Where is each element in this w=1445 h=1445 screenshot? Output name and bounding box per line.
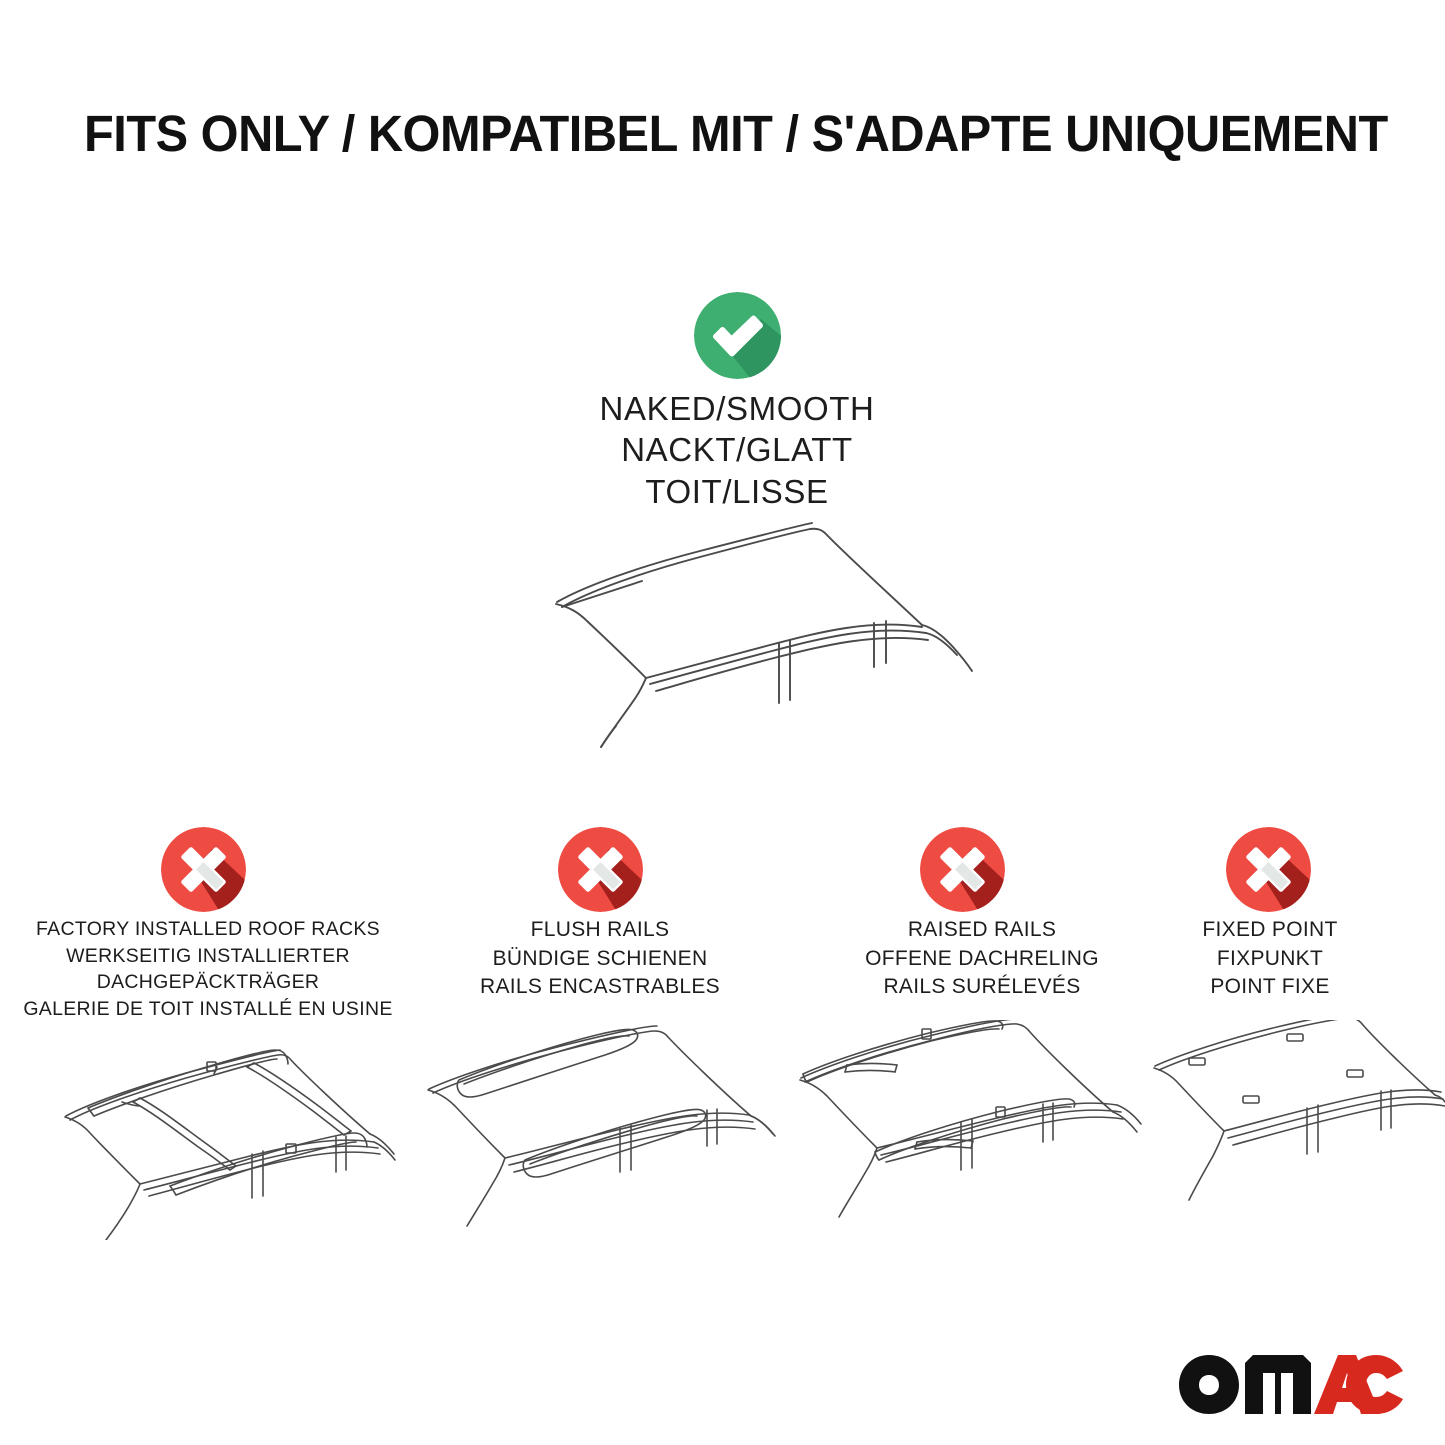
naked-smooth-roof-drawing xyxy=(470,495,1010,755)
x-circle-icon xyxy=(558,827,643,912)
x-circle-icon xyxy=(1226,827,1311,912)
factory-roof-rack-drawing xyxy=(30,1020,400,1240)
x-circle-icon xyxy=(161,827,246,912)
label-line-2: WERKSEITIG INSTALLIERTER xyxy=(8,943,408,970)
factory-installed-roof-racks-label: FACTORY INSTALLED ROOF RACKS WERKSEITIG … xyxy=(8,916,408,1022)
label-line-1: FIXED POINT xyxy=(1070,916,1445,945)
compatible-label-line-1: NAKED/SMOOTH xyxy=(487,388,987,429)
raised-rails-drawing xyxy=(785,1020,1155,1240)
label-line-3: POINT FIXE xyxy=(1070,973,1445,1002)
label-line-2: BÜNDIGE SCHIENEN xyxy=(400,945,800,974)
label-line-1: FACTORY INSTALLED ROOF RACKS xyxy=(8,916,408,943)
page-title: FITS ONLY / KOMPATIBEL MIT / S'ADAPTE UN… xyxy=(84,104,1326,163)
label-line-2: FIXPUNKT xyxy=(1070,945,1445,974)
check-circle-icon xyxy=(694,292,781,379)
label-line-3: RAILS ENCASTRABLES xyxy=(400,973,800,1002)
fixed-point-label: FIXED POINT FIXPUNKT POINT FIXE xyxy=(1070,916,1445,1002)
x-circle-icon xyxy=(920,827,1005,912)
label-line-4: GALERIE DE TOIT INSTALLÉ EN USINE xyxy=(8,996,408,1023)
compatible-label: NAKED/SMOOTH NACKT/GLATT TOIT/LISSE xyxy=(487,388,987,512)
label-line-3: DACHGEPÄCKTRÄGER xyxy=(8,969,408,996)
fixed-point-drawing xyxy=(1145,1020,1445,1240)
label-line-1: FLUSH RAILS xyxy=(400,916,800,945)
omac-logo: OMAC xyxy=(1175,1353,1407,1415)
flush-rails-drawing xyxy=(415,1020,785,1240)
flush-rails-label: FLUSH RAILS BÜNDIGE SCHIENEN RAILS ENCAS… xyxy=(400,916,800,1002)
fitment-compatibility-infographic: FITS ONLY / KOMPATIBEL MIT / S'ADAPTE UN… xyxy=(0,0,1445,1445)
compatible-label-line-2: NACKT/GLATT xyxy=(487,429,987,470)
